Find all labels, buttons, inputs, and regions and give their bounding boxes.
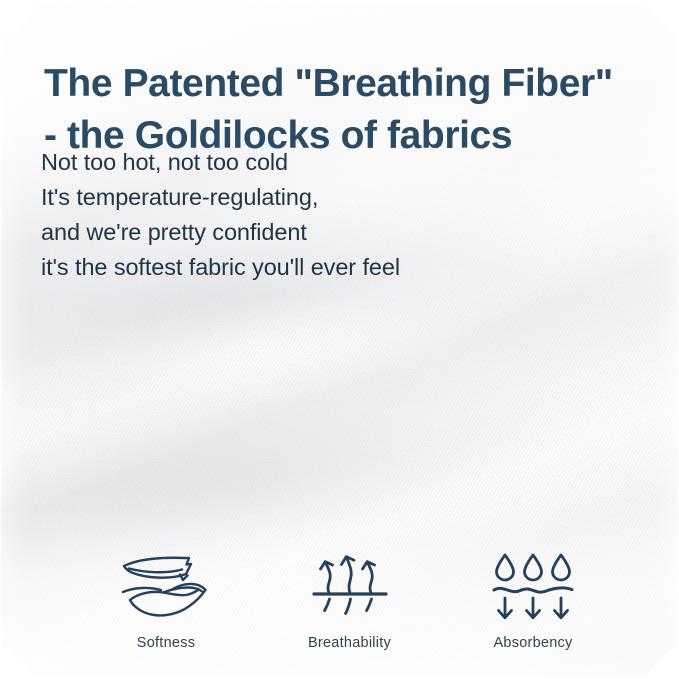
subtitle-line-1: Not too hot, not too cold: [41, 145, 400, 180]
product-feature-card: The Patented "Breathing Fiber" - the Gol…: [0, 0, 679, 679]
upward-air-arrows-icon: [312, 551, 388, 623]
feature-breathability: Breathability: [262, 551, 438, 651]
feature-icon-row: Softness: [78, 551, 621, 651]
feature-label: Absorbency: [493, 635, 572, 651]
subtitle-line-4: it's the softest fabric you'll ever feel: [41, 250, 400, 285]
subtitle-text: Not too hot, not too cold It's temperatu…: [41, 145, 400, 285]
feature-softness: Softness: [78, 551, 254, 651]
feature-absorbency: Absorbency: [445, 551, 621, 651]
hand-holding-feather-icon: [120, 551, 212, 623]
headline-line-1: The Patented "Breathing Fiber": [44, 58, 669, 110]
water-drops-absorb-icon: [491, 551, 575, 623]
feature-label: Softness: [137, 635, 195, 651]
subtitle-line-2: It's temperature-regulating,: [41, 180, 400, 215]
subtitle-line-3: and we're pretty confident: [41, 215, 400, 250]
feature-label: Breathability: [308, 635, 391, 651]
